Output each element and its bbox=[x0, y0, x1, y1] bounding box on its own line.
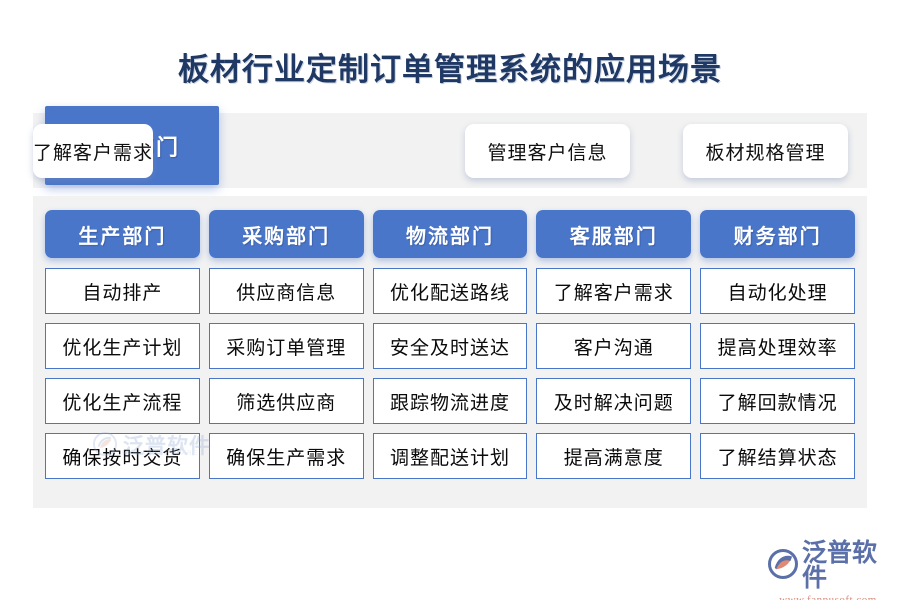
top-card-board-spec-management[interactable]: 板材规格管理 bbox=[683, 124, 848, 178]
fanpu-logo-icon bbox=[768, 549, 798, 584]
feature-cell[interactable]: 跟踪物流进度 bbox=[373, 378, 528, 424]
feature-cell[interactable]: 安全及时送达 bbox=[373, 323, 528, 369]
feature-cell[interactable]: 筛选供应商 bbox=[209, 378, 364, 424]
department-chip-finance[interactable]: 财务部门 bbox=[700, 210, 855, 258]
department-header-row: 生产部门 采购部门 物流部门 客服部门 财务部门 bbox=[45, 210, 855, 258]
feature-cell[interactable]: 提高处理效率 bbox=[700, 323, 855, 369]
brand-logo: 泛普软件 www.fanpusoft.com bbox=[768, 541, 888, 589]
feature-cell[interactable]: 确保生产需求 bbox=[209, 433, 364, 479]
feature-row: 自动排产 供应商信息 优化配送路线 了解客户需求 自动化处理 bbox=[45, 268, 855, 314]
feature-cell[interactable]: 调整配送计划 bbox=[373, 433, 528, 479]
feature-cell[interactable]: 了解回款情况 bbox=[700, 378, 855, 424]
feature-cell[interactable]: 了解结算状态 bbox=[700, 433, 855, 479]
feature-grid: 自动排产 供应商信息 优化配送路线 了解客户需求 自动化处理 优化生产计划 采购… bbox=[45, 268, 855, 479]
feature-cell[interactable]: 确保按时交货 bbox=[45, 433, 200, 479]
feature-cell[interactable]: 客户沟通 bbox=[536, 323, 691, 369]
department-chip-customer-service[interactable]: 客服部门 bbox=[536, 210, 691, 258]
department-chip-production[interactable]: 生产部门 bbox=[45, 210, 200, 258]
feature-cell[interactable]: 优化配送路线 bbox=[373, 268, 528, 314]
feature-cell[interactable]: 了解客户需求 bbox=[536, 268, 691, 314]
page-title: 板材行业定制订单管理系统的应用场景 bbox=[0, 44, 900, 89]
feature-row: 优化生产流程 筛选供应商 跟踪物流进度 及时解决问题 了解回款情况 bbox=[45, 378, 855, 424]
main-panel: 生产部门 采购部门 物流部门 客服部门 财务部门 自动排产 供应商信息 优化配送… bbox=[33, 196, 867, 508]
top-card-understand-customer-needs[interactable]: 了解客户需求 bbox=[33, 124, 153, 178]
feature-row: 优化生产计划 采购订单管理 安全及时送达 客户沟通 提高处理效率 bbox=[45, 323, 855, 369]
feature-cell[interactable]: 及时解决问题 bbox=[536, 378, 691, 424]
top-panel: 销售部门 管理客户信息 板材规格管理 了解客户需求 bbox=[33, 113, 867, 188]
department-chip-logistics[interactable]: 物流部门 bbox=[373, 210, 528, 258]
feature-cell[interactable]: 供应商信息 bbox=[209, 268, 364, 314]
brand-logo-row: 泛普软件 bbox=[768, 541, 888, 591]
feature-cell[interactable]: 提高满意度 bbox=[536, 433, 691, 479]
top-card-manage-customer-info[interactable]: 管理客户信息 bbox=[465, 124, 630, 178]
feature-cell[interactable]: 采购订单管理 bbox=[209, 323, 364, 369]
feature-cell[interactable]: 优化生产流程 bbox=[45, 378, 200, 424]
feature-cell[interactable]: 优化生产计划 bbox=[45, 323, 200, 369]
feature-cell[interactable]: 自动排产 bbox=[45, 268, 200, 314]
brand-url: www.fanpusoft.com bbox=[768, 594, 888, 600]
brand-name: 泛普软件 bbox=[802, 541, 888, 591]
feature-row: 确保按时交货 确保生产需求 调整配送计划 提高满意度 了解结算状态 bbox=[45, 433, 855, 479]
department-chip-purchasing[interactable]: 采购部门 bbox=[209, 210, 364, 258]
sales-department-row: 销售部门 管理客户信息 板材规格管理 了解客户需求 bbox=[33, 113, 867, 188]
feature-cell[interactable]: 自动化处理 bbox=[700, 268, 855, 314]
